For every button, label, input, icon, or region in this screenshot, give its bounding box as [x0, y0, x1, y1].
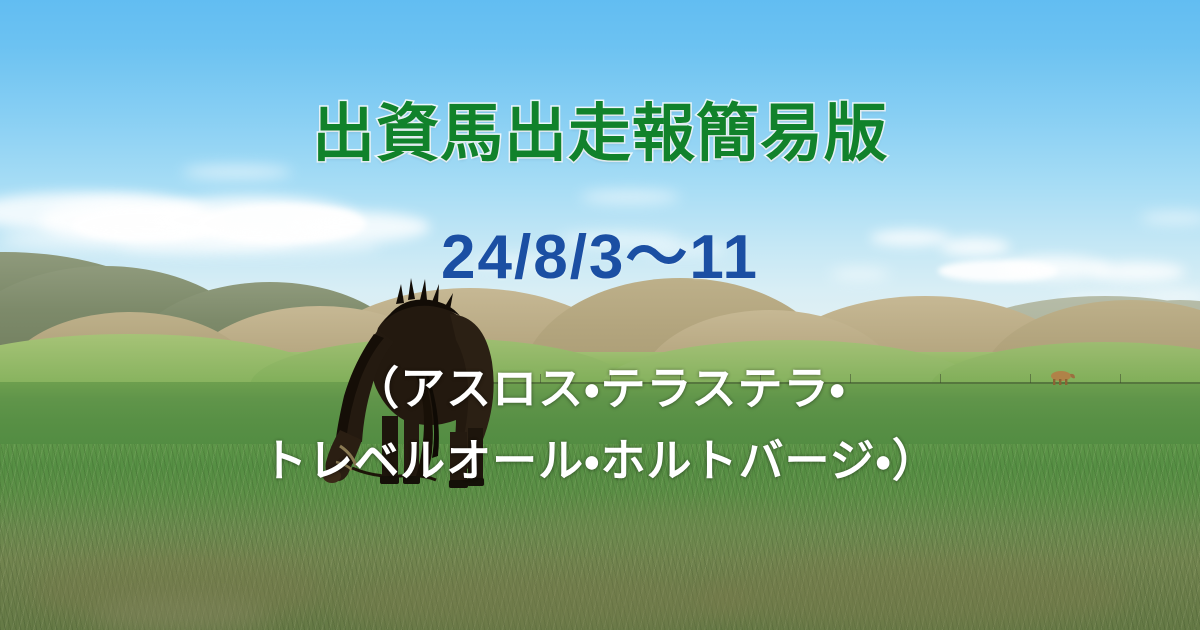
dry-ground-patch: [330, 572, 750, 630]
page-title: 出資馬出走報簡易版: [0, 83, 1200, 174]
dry-ground-patch: [90, 596, 270, 630]
poster-canvas: 出資馬出走報簡易版 24/8/3〜11 （アスロス・テラステラ・ トレベルオール…: [0, 0, 1200, 630]
date-range-label: 24/8/3〜11: [0, 206, 1200, 296]
horse-names-line2: トレベルオール・ホルトバージ・）: [0, 424, 1200, 489]
cloud-icon: [580, 190, 680, 204]
dry-ground-patch: [700, 560, 1130, 630]
dry-ground-patch: [540, 506, 800, 546]
horse-names-line1: （アスロス・テラステラ・: [0, 352, 1200, 417]
